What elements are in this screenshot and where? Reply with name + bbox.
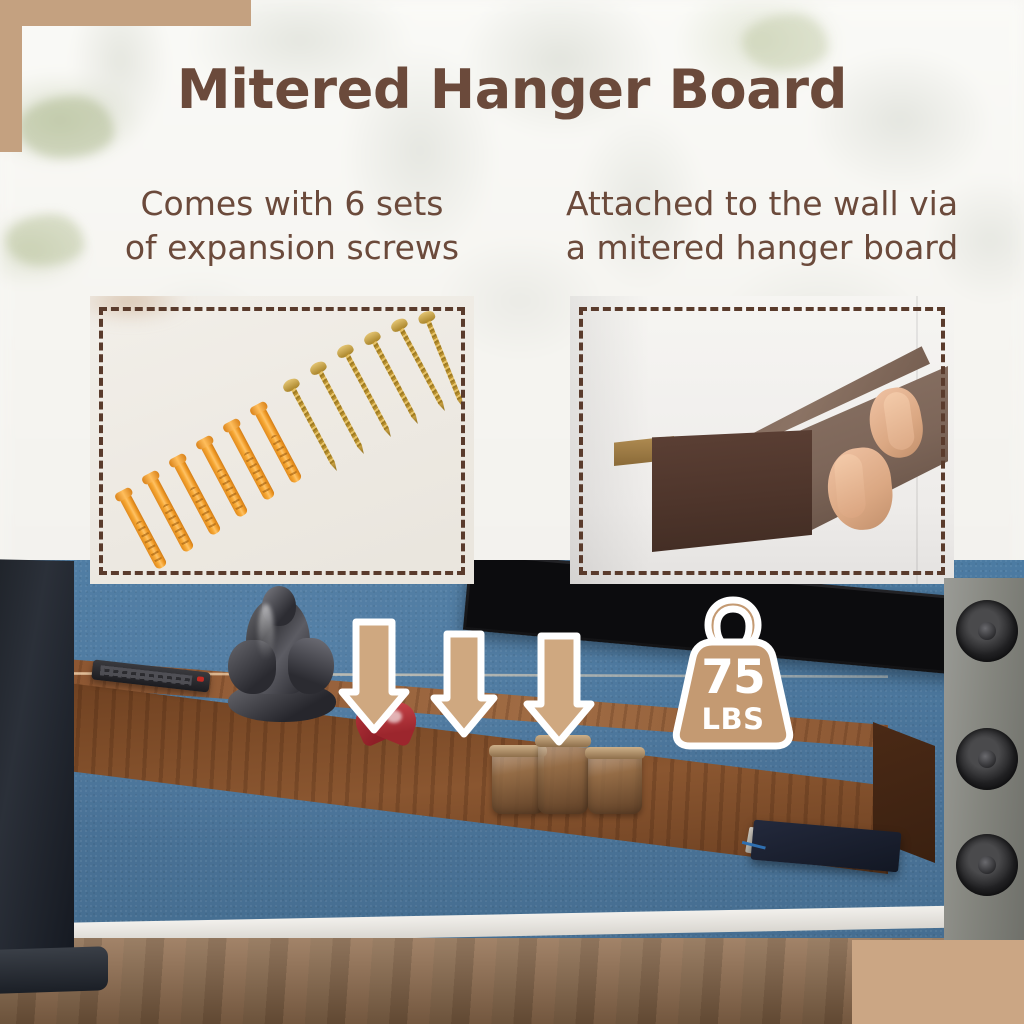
remote-power-button [197,676,205,682]
anchor-ribs [216,468,245,512]
anchor-head [141,469,161,485]
expansion-screws-photo [90,296,474,584]
caption-right-line1: Attached to the wall via [512,182,1012,226]
anchor-ribs [189,486,218,530]
screw-tip [457,398,465,408]
install-photo-wall [570,296,954,584]
anchor-head [222,417,242,433]
speaker-driver [956,728,1018,790]
figure-highlight [258,604,274,660]
weight-badge-label: 75 LBS [668,592,798,752]
bronze-meditating-figure [222,588,342,724]
figure-arm-right [288,638,334,694]
beam-end-face [652,430,812,552]
hanger-board-install-photo [570,296,954,584]
anchor-head [195,434,215,450]
left-speaker-tower [0,559,74,979]
weight-unit: LBS [702,705,765,734]
right-speaker-tower [944,578,1024,946]
load-arrow-3 [521,632,597,748]
anchor-ribs [135,520,164,564]
anchor-head [249,400,269,416]
caption-right: Attached to the wall via a mitered hange… [512,182,1012,270]
panel-hanger-board-install [570,296,954,584]
anchor-ribs [270,434,299,478]
caption-left-line1: Comes with 6 sets [54,182,530,226]
hand-lower-fingers [833,453,866,519]
caption-left: Comes with 6 sets of expansion screws [54,182,530,270]
speaker-base [0,946,108,994]
caption-right-line2: a mitered hanger board [512,226,1012,270]
anchor-ribs [162,503,191,547]
load-arrow-1 [336,618,412,736]
weight-value: 75 [701,654,764,701]
load-arrow-2 [428,630,500,740]
corner-block-bottom-right [852,940,1024,1024]
caption-left-line2: of expansion screws [54,226,530,270]
screw-photo-surface [90,296,474,584]
jar-lid [585,747,645,759]
candle-jar [538,742,588,814]
speaker-driver [956,600,1018,662]
page-title: Mitered Hanger Board [0,58,1024,121]
anchor-head [114,486,134,502]
wood-screw [420,310,464,402]
weight-capacity-badge: 75 LBS [668,592,798,752]
anchor-ribs [243,451,272,495]
candle-jar [492,752,544,814]
speaker-driver [956,834,1018,896]
panel-expansion-screws [90,296,474,584]
anchor-head [168,452,188,468]
infographic-canvas: Mitered Hanger Board Comes with 6 sets o… [0,0,1024,1024]
candle-jar [588,754,642,814]
